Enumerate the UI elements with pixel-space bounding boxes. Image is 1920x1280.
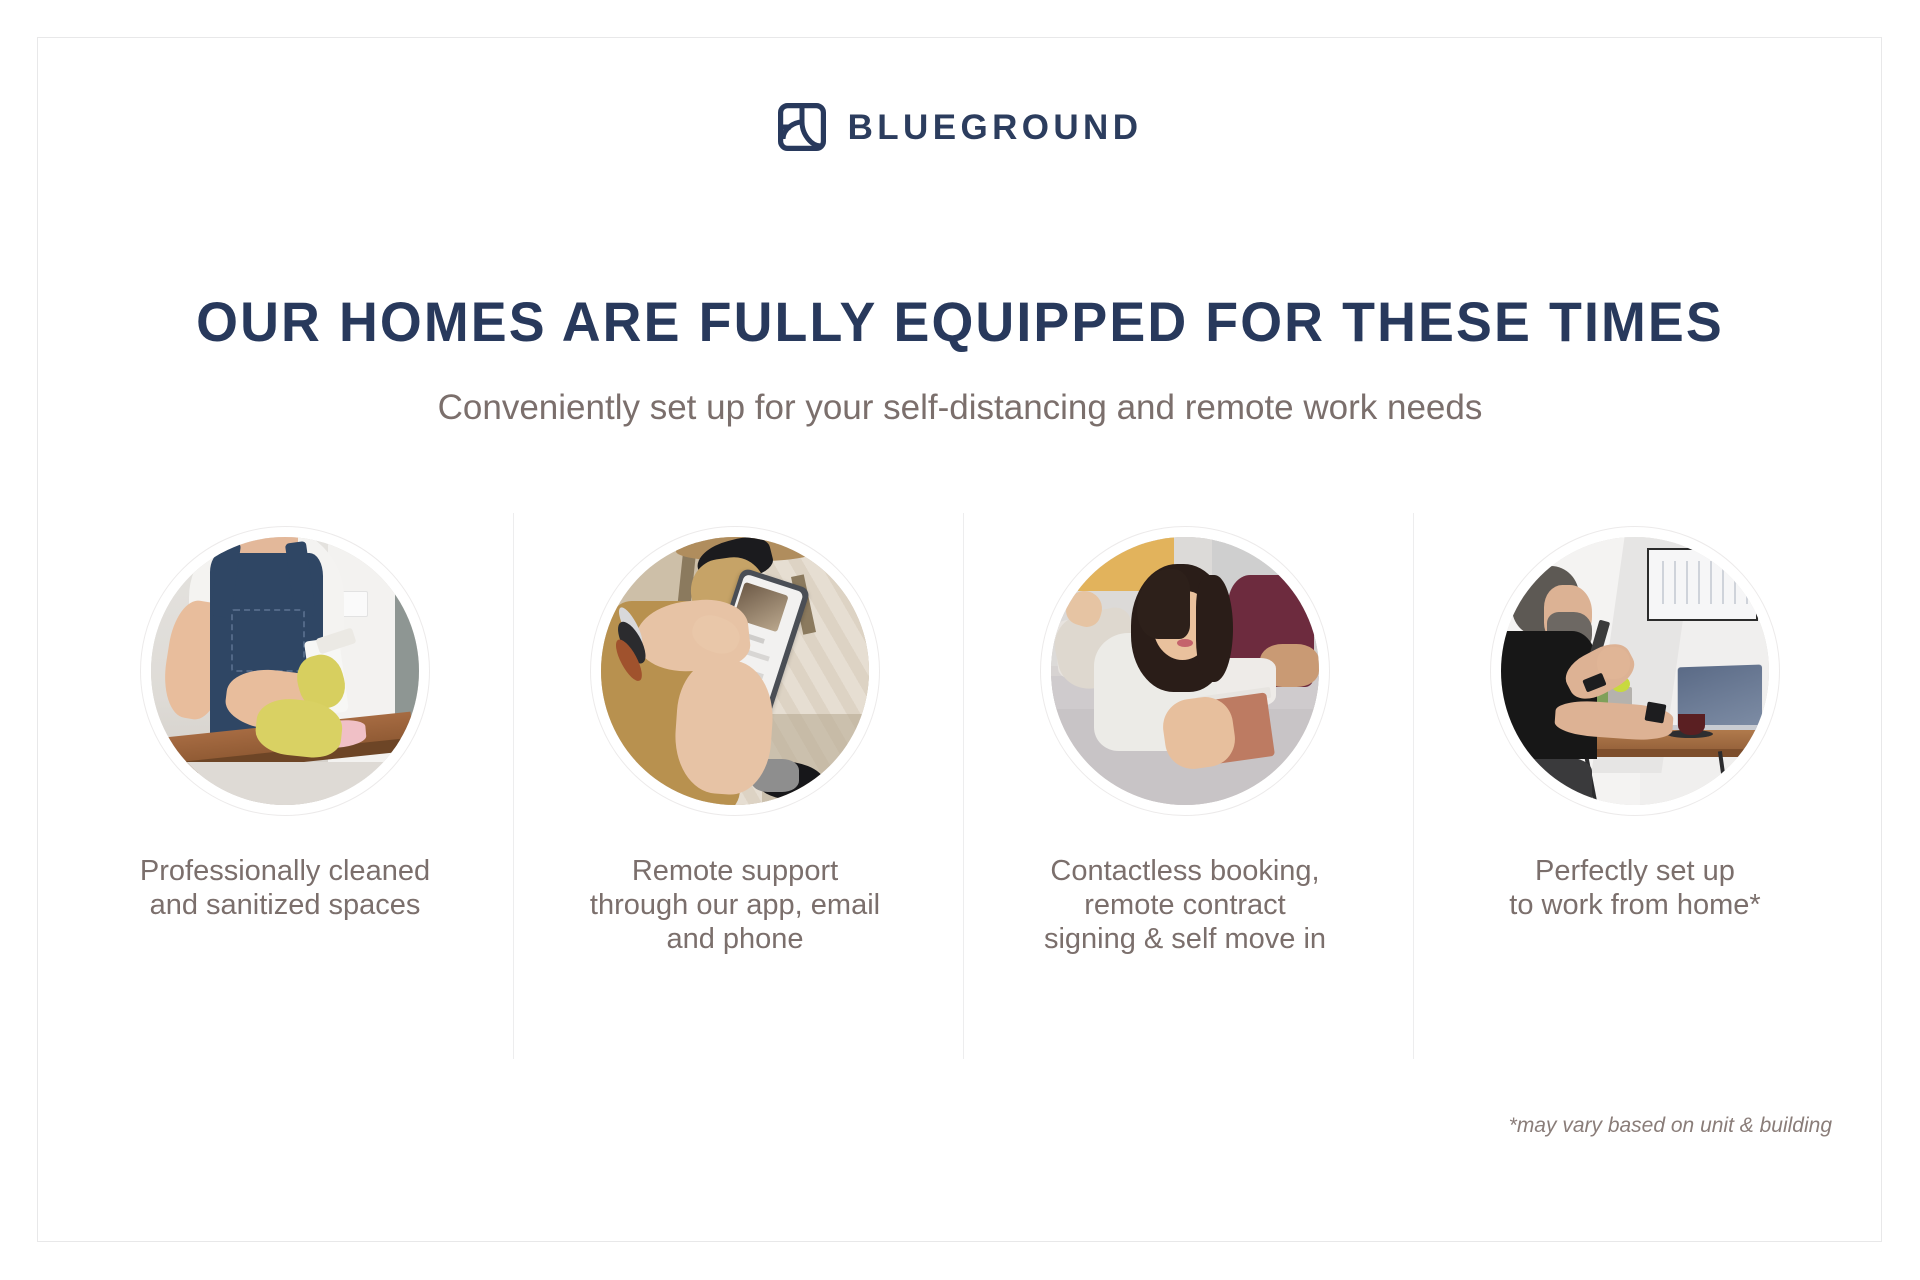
photo-cleaning <box>151 537 419 805</box>
photo-ring <box>1040 526 1330 816</box>
photo-ring <box>140 526 430 816</box>
feature-caption: Remote support through our app, email an… <box>590 855 880 957</box>
brand-wordmark: BLUEGROUND <box>848 110 1143 145</box>
photo-work-from-home <box>1501 537 1769 805</box>
page-title: OUR HOMES ARE FULLY EQUIPPED FOR THESE T… <box>38 293 1881 352</box>
brand-logo[interactable]: BLUEGROUND <box>0 103 1920 151</box>
feature-caption: Contactless booking, remote contract sig… <box>1044 855 1326 957</box>
photo-ring <box>590 526 880 816</box>
photo-ring <box>1490 526 1780 816</box>
feature-caption: Perfectly set up to work from home* <box>1509 855 1760 923</box>
photo-mobile-app <box>601 537 869 805</box>
feature-card-remote-support: Remote support through our app, email an… <box>510 513 960 1059</box>
feature-columns: Professionally cleaned and sanitized spa… <box>60 513 1860 1059</box>
blueground-logo-icon <box>778 103 826 151</box>
page-subtitle: Conveniently set up for your self-distan… <box>0 387 1920 429</box>
footnote-disclaimer: *may vary based on unit & building <box>1509 1114 1832 1138</box>
photo-tablet-booking <box>1051 537 1319 805</box>
feature-card-work-from-home: Perfectly set up to work from home* <box>1410 513 1860 1059</box>
feature-caption: Professionally cleaned and sanitized spa… <box>140 855 430 923</box>
feature-card-cleaning: Professionally cleaned and sanitized spa… <box>60 513 510 1059</box>
feature-card-contactless-booking: Contactless booking, remote contract sig… <box>960 513 1410 1059</box>
